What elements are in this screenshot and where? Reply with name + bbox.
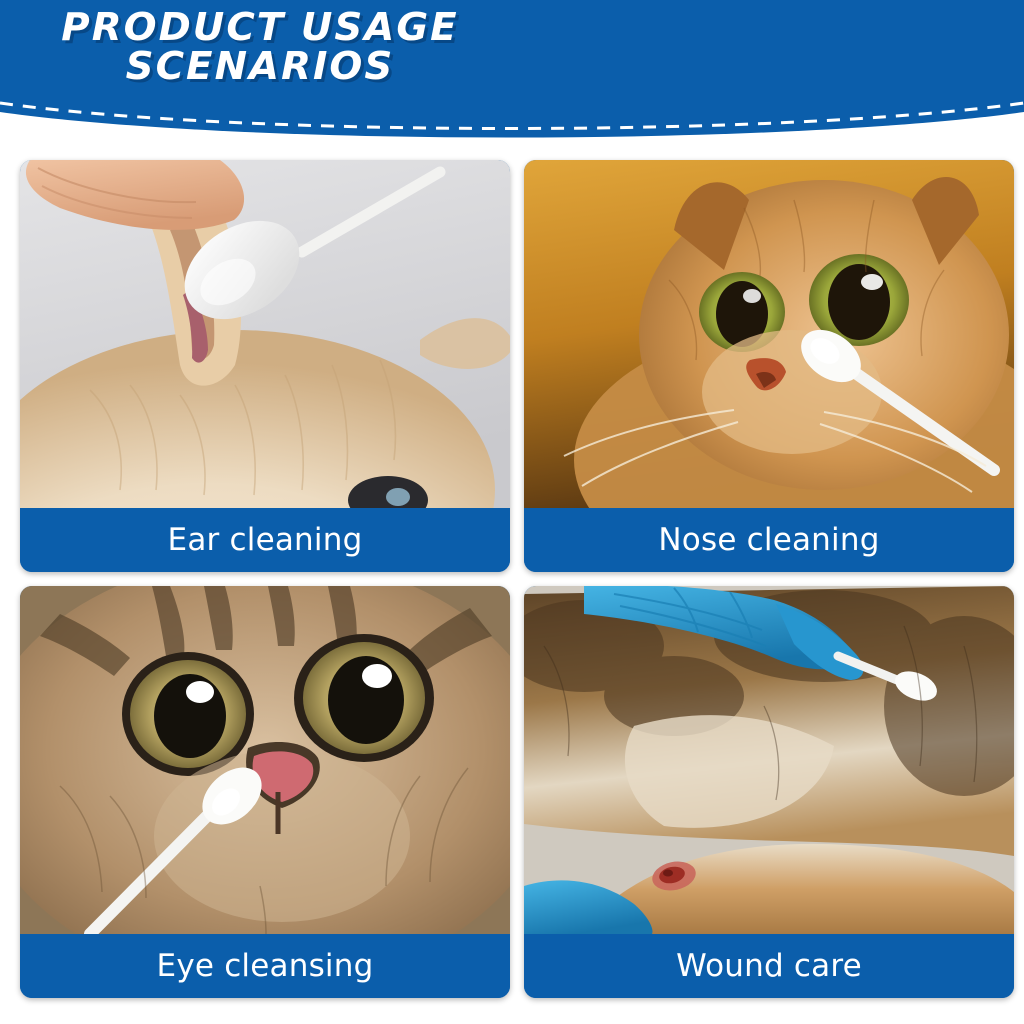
caption-bar-ear-cleaning: Ear cleaning xyxy=(20,508,510,572)
scenario-card-wound-care[interactable]: Wound care xyxy=(524,586,1014,998)
scenario-card-nose-cleaning[interactable]: Nose cleaning xyxy=(524,160,1014,572)
photo-eye-cleansing xyxy=(20,586,510,934)
caption-label-ear-cleaning: Ear cleaning xyxy=(168,522,363,558)
caption-label-wound-care: Wound care xyxy=(676,948,862,984)
header-banner: PRODUCT USAGE SCENARIOS xyxy=(0,0,1024,150)
banner-wave-shape xyxy=(0,0,1024,150)
usage-scenario-grid: Ear cleaning xyxy=(20,160,1004,1004)
caption-bar-nose-cleaning: Nose cleaning xyxy=(524,508,1014,572)
caption-bar-wound-care: Wound care xyxy=(524,934,1014,998)
photo-ear-cleaning xyxy=(20,160,510,508)
infographic-page: PRODUCT USAGE SCENARIOS xyxy=(0,0,1024,1024)
scenario-card-ear-cleaning[interactable]: Ear cleaning xyxy=(20,160,510,572)
photo-nose-cleaning xyxy=(524,160,1014,508)
photo-wound-care xyxy=(524,586,1014,934)
caption-bar-eye-cleansing: Eye cleansing xyxy=(20,934,510,998)
caption-label-eye-cleansing: Eye cleansing xyxy=(157,948,374,984)
caption-label-nose-cleaning: Nose cleaning xyxy=(658,522,879,558)
scenario-card-eye-cleansing[interactable]: Eye cleansing xyxy=(20,586,510,998)
